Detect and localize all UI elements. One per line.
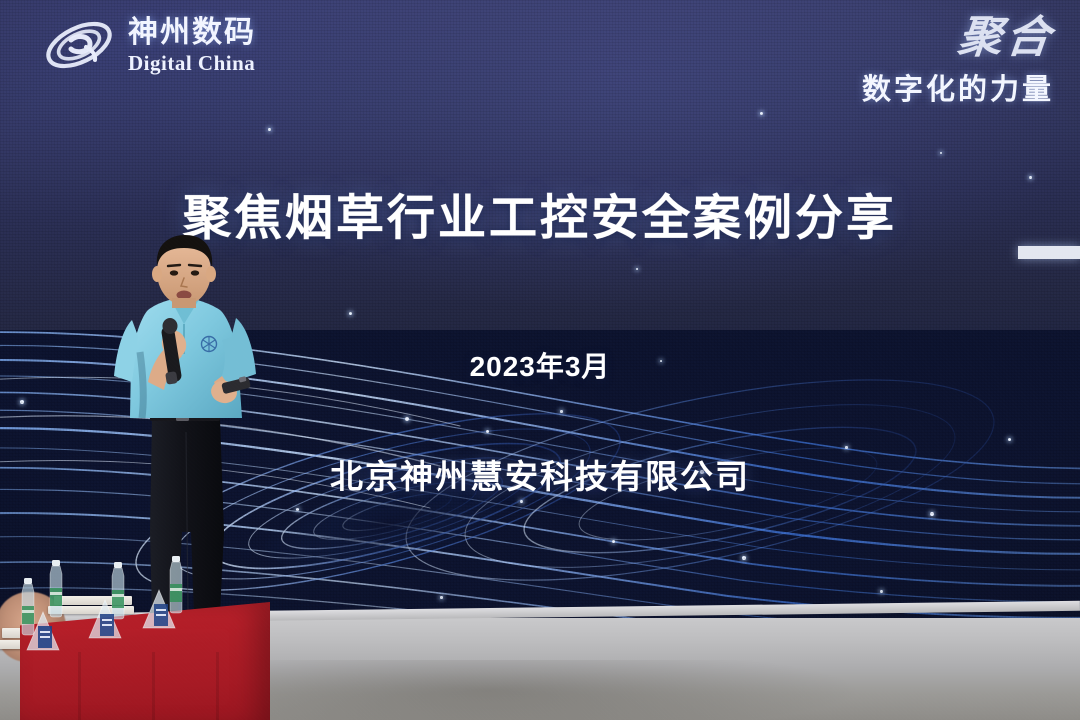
name-card-tent-icon <box>88 598 118 640</box>
conference-photo-scene: 神州数码 Digital China 聚合 数字化的力量 聚焦烟草行业工控安全案… <box>0 0 1080 720</box>
brand-name-en: Digital China <box>128 53 256 74</box>
name-card-tent-icon <box>142 588 172 630</box>
digital-china-logo: 神州数码 Digital China <box>40 14 256 78</box>
head-table <box>0 560 290 720</box>
white-dash-bar-icon <box>1018 246 1080 259</box>
tagline-sub-text: 数字化的力量 <box>862 66 1054 108</box>
digital-china-spiral-logo-icon <box>40 14 118 78</box>
tagline-brush-text: 聚合 <box>860 16 1057 60</box>
brand-name-cn: 神州数码 <box>128 18 256 48</box>
event-tagline: 聚合 数字化的力量 <box>862 16 1054 108</box>
floor-shadow <box>230 660 1080 720</box>
name-card-tent-icon <box>26 610 56 652</box>
